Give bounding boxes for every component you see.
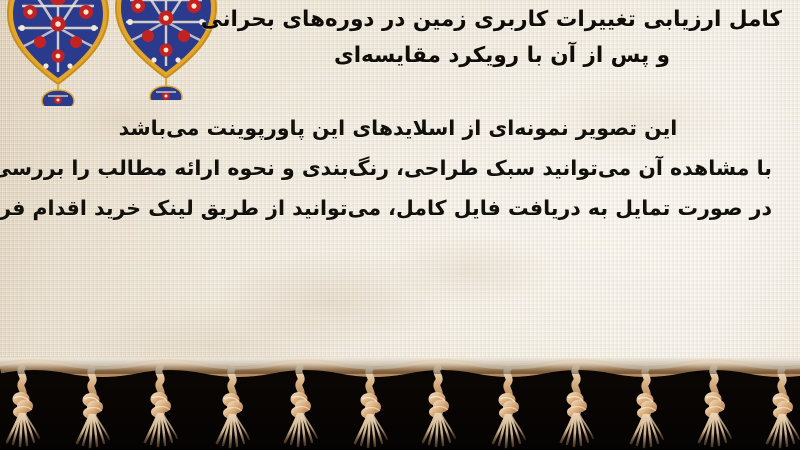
text-layer: کامل ارزیابی تغییرات کاربری زمین در دوره… (0, 0, 800, 382)
page-title: کامل ارزیابی تغییرات کاربری زمین در دوره… (222, 2, 782, 74)
body-line-2: با مشاهده آن می‌توانید سبک طراحی، رنگ‌بن… (24, 148, 772, 188)
body-text: این تصویر نمونه‌ای از اسلایدهای این پاور… (24, 108, 772, 228)
tassel-fringe (0, 358, 800, 450)
body-line-3: در صورت تمایل به دریافت فایل کامل، می‌تو… (24, 188, 772, 228)
title-line-1: کامل ارزیابی تغییرات کاربری زمین در دوره… (222, 2, 782, 38)
fringe-shadow (0, 358, 800, 374)
slide-canvas: کامل ارزیابی تغییرات کاربری زمین در دوره… (0, 0, 800, 450)
body-line-1: این تصویر نمونه‌ای از اسلایدهای این پاور… (24, 108, 772, 148)
title-line-2: و پس از آن با رویکرد مقایسه‌ای (222, 38, 782, 74)
